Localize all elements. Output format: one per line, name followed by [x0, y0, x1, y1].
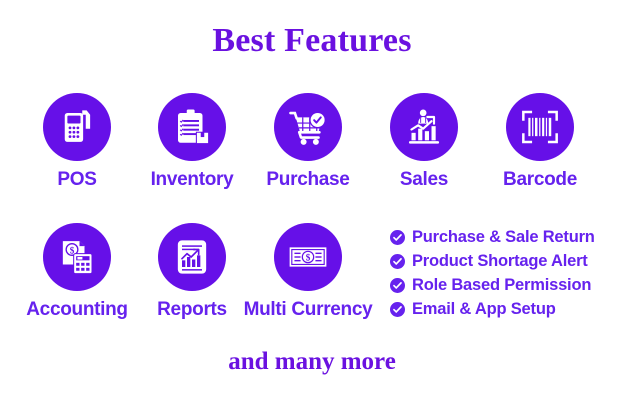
- pos-terminal-icon: [56, 106, 98, 148]
- checklist-item[interactable]: Email & App Setup: [390, 298, 624, 321]
- svg-text:$: $: [306, 253, 311, 263]
- feature-label-multi-currency: Multi Currency: [238, 299, 378, 321]
- page-title: Best Features: [0, 22, 624, 60]
- additional-features-checklist: Purchase & Sale Return Product Shortage …: [390, 226, 624, 322]
- feature-barcode[interactable]: Barcode: [470, 93, 610, 191]
- report-document-chart-icon: [172, 237, 212, 277]
- check-circle-icon: [390, 278, 405, 293]
- clipboard-checklist-icon: [171, 106, 213, 148]
- banknote-dollar-icon: $: [287, 236, 329, 278]
- feature-multi-currency[interactable]: $ Multi Currency: [238, 223, 378, 321]
- feature-showcase-page: Best Features POS: [0, 0, 624, 400]
- barcode-scanner-icon: [520, 107, 560, 147]
- checklist-item-label: Purchase & Sale Return: [412, 228, 595, 247]
- check-circle-icon: [390, 230, 405, 245]
- checklist-item[interactable]: Product Shortage Alert: [390, 250, 624, 273]
- checklist-item[interactable]: Role Based Permission: [390, 274, 624, 297]
- feature-label-barcode: Barcode: [470, 169, 610, 191]
- checklist-item-label: Product Shortage Alert: [412, 252, 588, 271]
- barcode-icon-circle: [506, 93, 574, 161]
- shopping-cart-check-icon: [287, 106, 329, 148]
- checklist-item-label: Email & App Setup: [412, 300, 556, 319]
- pos-icon-circle: [43, 93, 111, 161]
- footer-text: and many more: [0, 348, 624, 376]
- purchase-icon-circle: [274, 93, 342, 161]
- invoice-calculator-icon: $: [57, 237, 97, 277]
- checklist-item-label: Role Based Permission: [412, 276, 591, 295]
- check-circle-icon: [390, 254, 405, 269]
- accounting-icon-circle: $: [43, 223, 111, 291]
- multi-currency-icon-circle: $: [274, 223, 342, 291]
- checklist-item[interactable]: Purchase & Sale Return: [390, 226, 624, 249]
- check-circle-icon: [390, 302, 405, 317]
- sales-icon-circle: [390, 93, 458, 161]
- reports-icon-circle: [158, 223, 226, 291]
- inventory-icon-circle: [158, 93, 226, 161]
- person-bar-chart-growth-icon: [404, 107, 444, 147]
